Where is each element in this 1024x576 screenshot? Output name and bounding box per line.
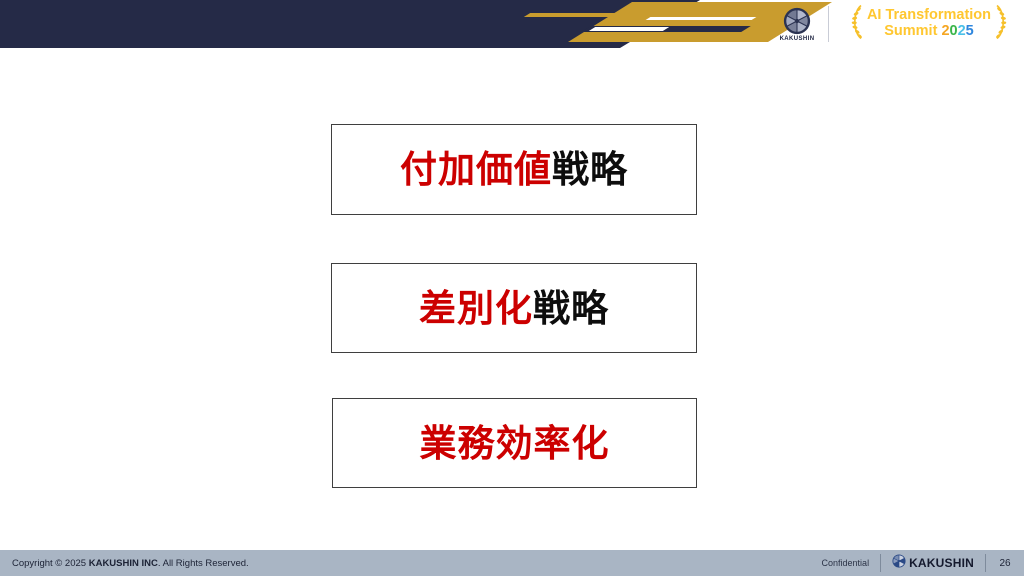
header-brand-wordmark: KAKUSHIN bbox=[780, 36, 815, 42]
event-year-digit-2: 0 bbox=[950, 23, 958, 39]
footer-aperture-icon bbox=[892, 554, 906, 573]
confidential-label: Confidential bbox=[811, 558, 881, 568]
event-year-digit-1: 2 bbox=[941, 23, 949, 39]
strategy-box-label-1: 付加価値戦略 bbox=[400, 151, 628, 188]
header-white-stripe-lower bbox=[589, 27, 669, 31]
slide-canvas: KAKUSHIN bbox=[0, 0, 1024, 576]
strategy-box-operational-efficiency[interactable]: 業務効率化 bbox=[332, 398, 697, 488]
copyright-suffix: . All Rights Reserved. bbox=[158, 558, 249, 569]
strategy-box-label-2: 差別化戦略 bbox=[419, 290, 609, 327]
laurel-wreath-right-icon bbox=[994, 3, 1009, 46]
strategy-highlight-2: 差別化 bbox=[419, 287, 533, 330]
footer-right-group: Confidential bbox=[811, 550, 1024, 576]
laurel-wreath-left-icon bbox=[849, 3, 864, 46]
strategy-box-value-added[interactable]: 付加価値戦略 bbox=[331, 124, 697, 215]
event-year: 2025 bbox=[941, 23, 973, 39]
strategy-rest-2: 戦略 bbox=[533, 287, 609, 330]
copyright-prefix: Copyright © 2025 bbox=[12, 558, 89, 569]
footer-brand: KAKUSHIN bbox=[881, 554, 985, 573]
page-number: 26 bbox=[986, 558, 1024, 569]
strategy-rest-1: 戦略 bbox=[552, 148, 628, 191]
strategy-box-label-3: 業務効率化 bbox=[420, 425, 610, 462]
slide-header: KAKUSHIN bbox=[0, 0, 1024, 48]
aperture-icon bbox=[783, 7, 811, 35]
event-year-digit-3: 2 bbox=[958, 23, 966, 39]
copyright-company: KAKUSHIN INC bbox=[89, 558, 158, 569]
header-white-stripe-upper bbox=[646, 17, 757, 20]
event-summit-label: Summit bbox=[884, 23, 937, 39]
strategy-highlight-1: 付加価値 bbox=[400, 148, 552, 191]
slide-footer: Copyright © 2025 KAKUSHIN INC. All Right… bbox=[0, 550, 1024, 576]
header-divider bbox=[828, 6, 829, 42]
header-brand-logo: KAKUSHIN bbox=[770, 3, 824, 45]
header-event-title: AI Transformation Summit 2025 bbox=[834, 0, 1024, 48]
slide-body: 付加価値戦略 差別化戦略 業務効率化 bbox=[0, 48, 1024, 548]
footer-copyright: Copyright © 2025 KAKUSHIN INC. All Right… bbox=[12, 558, 249, 569]
strategy-highlight-3: 業務効率化 bbox=[420, 422, 610, 465]
event-title-line2: Summit 2025 bbox=[867, 24, 991, 40]
event-title-line1: AI Transformation bbox=[867, 8, 991, 24]
strategy-box-differentiation[interactable]: 差別化戦略 bbox=[331, 263, 697, 353]
event-year-digit-4: 5 bbox=[966, 23, 974, 39]
event-title-text: AI Transformation Summit 2025 bbox=[864, 8, 994, 39]
footer-brand-wordmark: KAKUSHIN bbox=[909, 556, 974, 570]
